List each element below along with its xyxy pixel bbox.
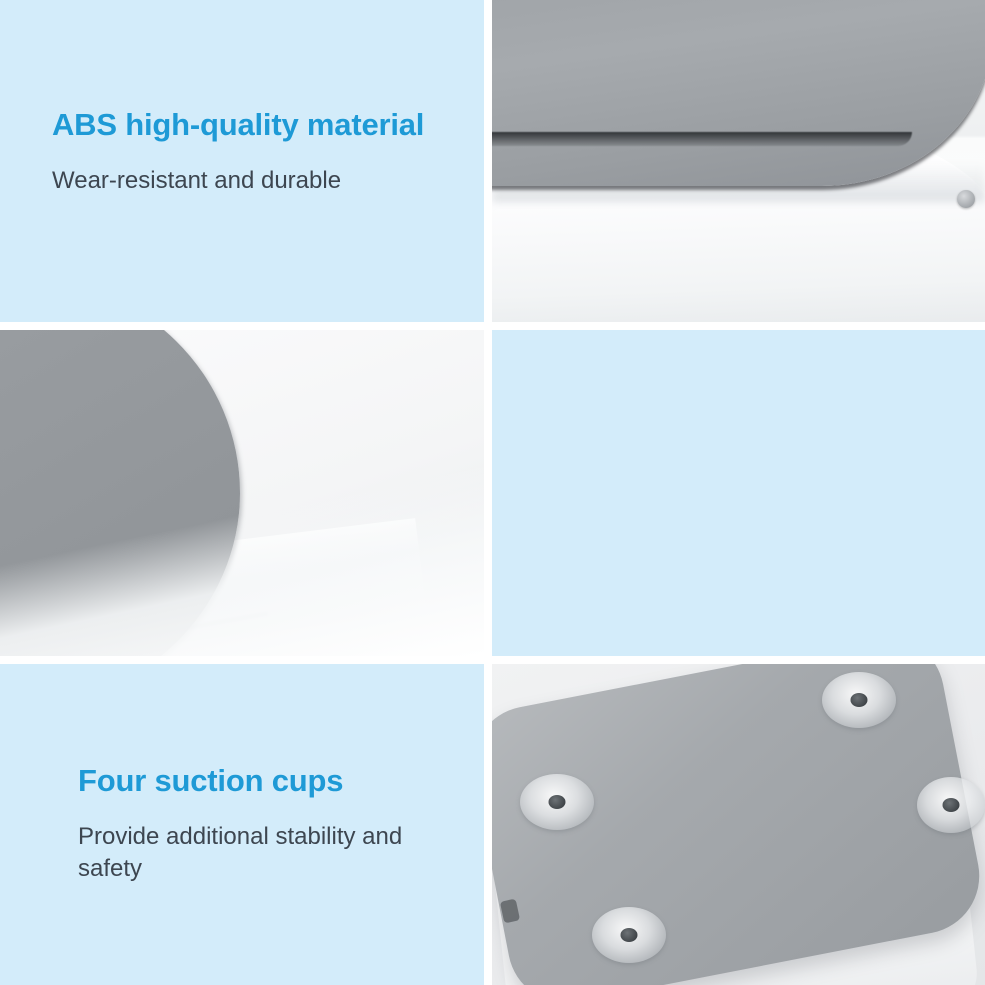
- feature-subtitle-four-suction-cups: Provide additional stability and safety: [78, 821, 450, 885]
- feature-text-block: ABS high-quality material Wear-resistant…: [52, 108, 454, 197]
- suction-cup-bottom-left: [592, 907, 666, 963]
- suction-cup-bottom-right: [917, 777, 985, 833]
- lid-seam: [492, 132, 912, 146]
- infographic-grid: ABS high-quality material Wear-resistant…: [0, 0, 985, 985]
- product-photo-control-panel: 5min 3min: [0, 330, 484, 656]
- suction-cup-top-right: [822, 672, 896, 728]
- suction-cup-top-left: [520, 774, 594, 830]
- product-photo-suction-cups: [492, 664, 985, 985]
- product-photo-lid-closeup: [492, 0, 985, 322]
- feature-title-abs-material: ABS high-quality material: [52, 108, 454, 143]
- feature-panel-abs-material: ABS high-quality material Wear-resistant…: [0, 0, 484, 322]
- feature-subtitle-abs-material: Wear-resistant and durable: [52, 165, 424, 197]
- feature-panel-multi-level-adjustment: Multi-level adjustment Meet a variety of…: [492, 330, 985, 656]
- side-port-icon: [957, 190, 975, 208]
- product-lid: [492, 0, 985, 186]
- body-top-face: [0, 330, 484, 656]
- feature-title-four-suction-cups: Four suction cups: [78, 764, 454, 799]
- feature-panel-four-suction-cups: Four suction cups Provide additional sta…: [0, 664, 484, 985]
- feature-text-block: Four suction cups Provide additional sta…: [78, 764, 454, 885]
